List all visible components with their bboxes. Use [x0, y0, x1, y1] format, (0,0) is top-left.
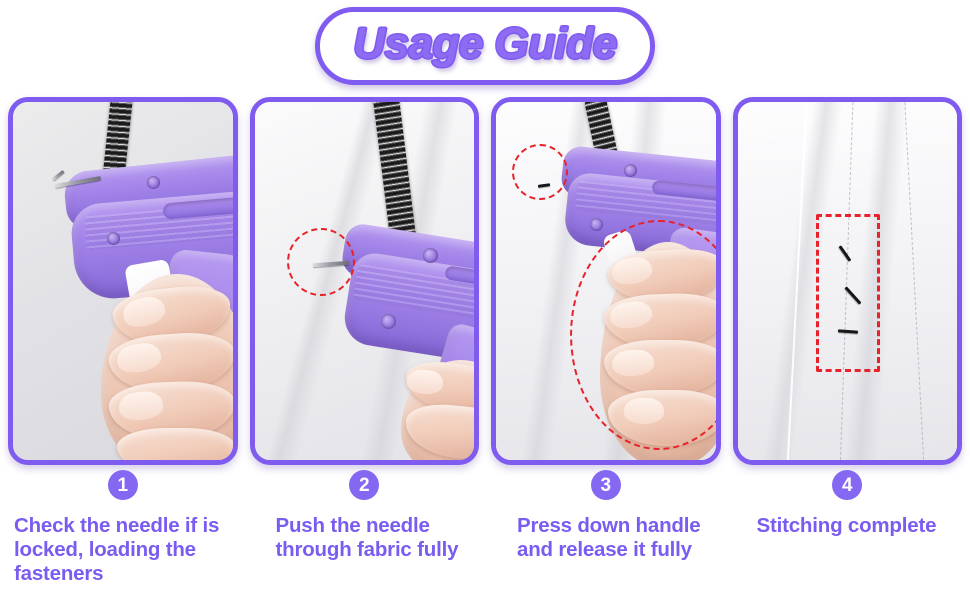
step-3: 3 Press down handle and release it fully — [491, 470, 721, 595]
step-badge-1: 1 — [108, 470, 138, 500]
screw-lower — [381, 314, 396, 329]
step-caption-3: Press down handle and release it fully — [491, 514, 721, 562]
screw-upper — [423, 248, 438, 263]
screw-upper — [624, 164, 637, 177]
photo-tagging-gun-in-hand — [13, 102, 233, 460]
fabric-seam-left — [786, 102, 807, 460]
step-caption-1: Check the needle if is locked, loading t… — [8, 514, 238, 585]
marker-dashed-circle-handle-grip — [570, 220, 716, 450]
fabric-stitch-seam-right — [904, 102, 924, 460]
screw-lower — [107, 232, 120, 245]
step-2: 2 Push the needle through fabric fully — [250, 470, 480, 595]
photo-pressing-handle — [496, 102, 716, 460]
marker-dashed-circle-fastener — [512, 144, 568, 200]
page-title: Usage Guide — [353, 22, 616, 66]
step-image-4[interactable] — [733, 97, 963, 465]
marker-dashed-circle-needle-tip — [287, 228, 355, 296]
photo-stitching-complete — [738, 102, 958, 460]
step-4: 4 Stitching complete — [733, 470, 963, 595]
title-pill: Usage Guide — [315, 7, 655, 85]
header: Usage Guide — [0, 0, 970, 92]
finger-4 — [117, 428, 233, 460]
screw-lower — [590, 218, 603, 231]
needle-tip — [52, 170, 65, 181]
step-badge-2: 2 — [349, 470, 379, 500]
step-image-3[interactable] — [491, 97, 721, 465]
step-image-1[interactable] — [8, 97, 238, 465]
step-image-strip — [8, 97, 962, 465]
step-badge-4: 4 — [832, 470, 862, 500]
marker-dashed-rectangle-fasteners — [816, 214, 880, 372]
photo-needle-through-fabric — [255, 102, 475, 460]
screw-upper — [147, 176, 160, 189]
step-caption-strip: 1 Check the needle if is locked, loading… — [8, 470, 962, 595]
step-badge-3: 3 — [591, 470, 621, 500]
step-1: 1 Check the needle if is locked, loading… — [8, 470, 238, 595]
step-image-2[interactable] — [250, 97, 480, 465]
step-caption-2: Push the needle through fabric fully — [250, 514, 480, 562]
step-caption-4: Stitching complete — [733, 514, 963, 538]
